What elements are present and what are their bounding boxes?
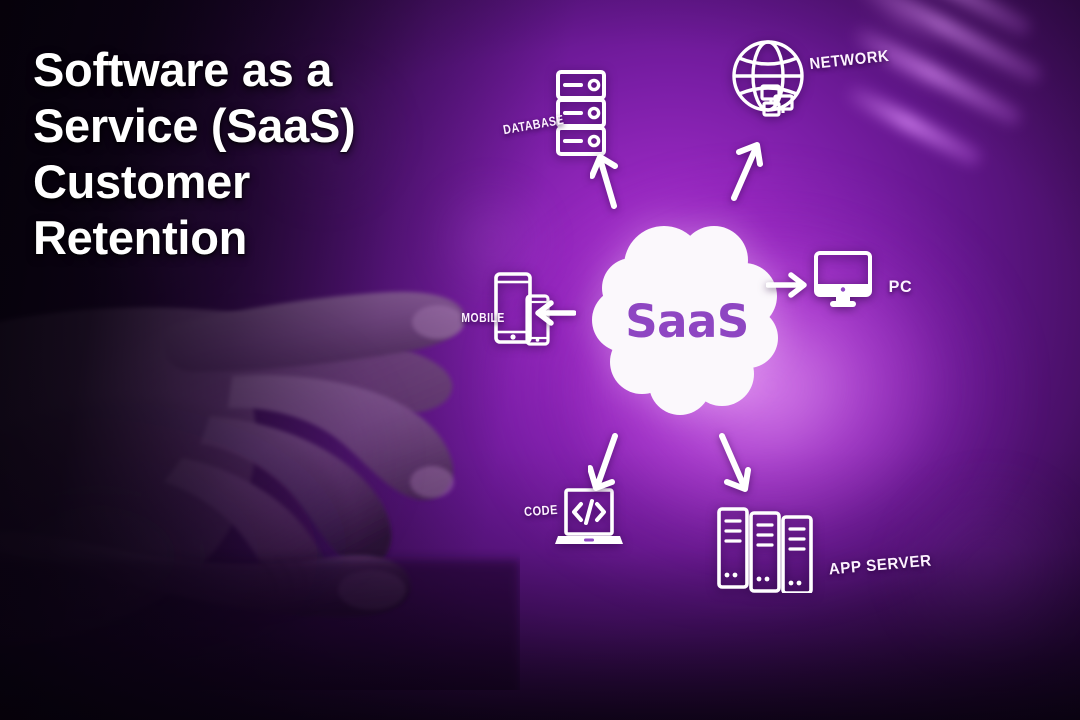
- arrow-up-right-icon: [726, 140, 766, 202]
- saas-ecosystem-diagram: SaaS DATABASE: [0, 0, 1080, 720]
- arrow-down-left-icon: [588, 432, 624, 494]
- code-label: CODE: [524, 502, 559, 519]
- saas-hero-graphic: Software as a Service (SaaS) Customer Re…: [0, 0, 1080, 720]
- desktop-monitor-icon: [812, 250, 874, 312]
- app-server-label: APP SERVER: [828, 553, 932, 580]
- mobile-label: MOBILE: [461, 310, 504, 325]
- arrow-left-icon: [534, 300, 576, 326]
- arrow-right-icon: [766, 272, 808, 298]
- pc-label: PC: [889, 277, 913, 297]
- arrow-down-right-icon: [714, 432, 754, 494]
- arrow-up-left-icon: [590, 152, 624, 210]
- server-towers-icon: [716, 503, 820, 593]
- cloud-label: SaaS: [592, 218, 782, 418]
- laptop-code-icon: [554, 488, 624, 550]
- network-label: NETWORK: [809, 48, 890, 74]
- globe-network-icon: [730, 36, 812, 128]
